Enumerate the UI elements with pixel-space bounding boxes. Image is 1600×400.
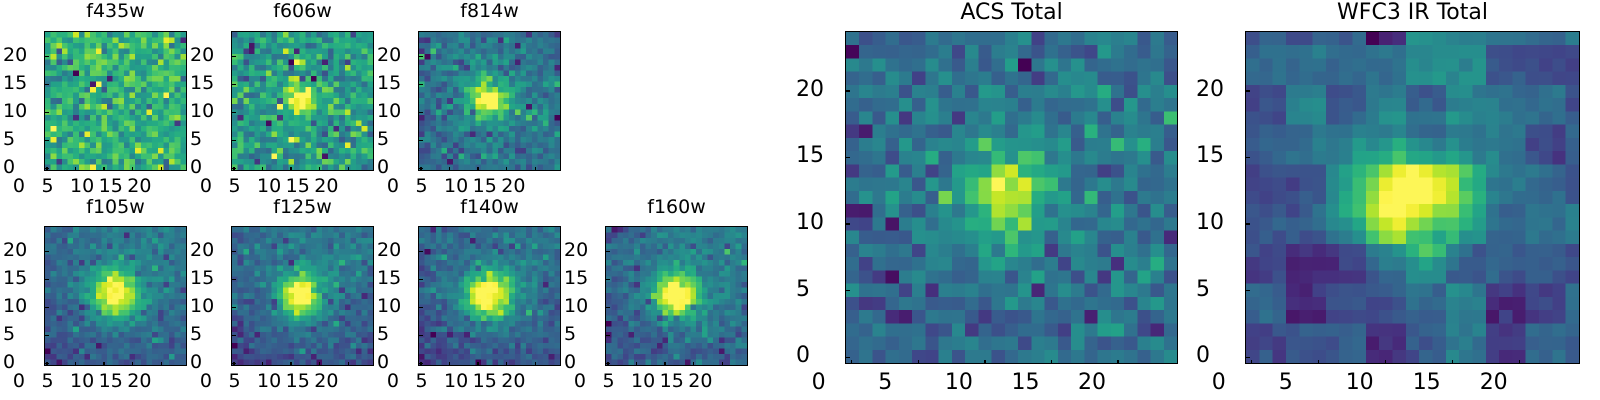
xtick-mark xyxy=(1251,360,1252,365)
xtick-mark xyxy=(75,362,76,367)
ytick-label: 0 xyxy=(377,158,411,177)
heatmap-image-wfc3-ir-total xyxy=(1246,32,1579,363)
ytick-label: 15 xyxy=(190,269,224,288)
heatmap-image-f140w xyxy=(419,227,560,365)
ytick-label: 0 xyxy=(3,158,37,177)
ytick-label: 15 xyxy=(190,74,224,93)
xtick-mark xyxy=(1051,360,1052,365)
ytick-label: 0 xyxy=(796,345,836,367)
xtick-label: 20 xyxy=(1078,372,1158,394)
ytick-mark xyxy=(418,56,423,57)
ytick-mark xyxy=(44,335,49,336)
ytick-label: 5 xyxy=(1196,279,1236,301)
heatmap-image-f125w xyxy=(232,227,373,365)
ytick-mark xyxy=(845,157,850,158)
ytick-mark xyxy=(1245,223,1250,224)
xtick-mark xyxy=(535,362,536,367)
ytick-mark xyxy=(418,251,423,252)
ytick-label: 15 xyxy=(377,269,411,288)
xtick-mark xyxy=(46,167,47,172)
heatmap-image-f160w xyxy=(606,227,747,365)
xtick-mark xyxy=(132,167,133,172)
ytick-mark xyxy=(44,140,49,141)
xtick-mark xyxy=(103,167,104,172)
ytick-mark xyxy=(231,112,236,113)
xtick-mark xyxy=(319,362,320,367)
ytick-label: 5 xyxy=(190,130,224,149)
xtick-mark xyxy=(233,167,234,172)
xtick-mark xyxy=(1519,360,1520,365)
ytick-label: 15 xyxy=(3,269,37,288)
image-axes-wfc3-ir-total xyxy=(1245,31,1580,364)
xtick-mark xyxy=(290,167,291,172)
ytick-mark xyxy=(231,84,236,85)
ytick-mark xyxy=(44,84,49,85)
ytick-label: 0 xyxy=(564,353,598,372)
xtick-label: 20 xyxy=(501,372,569,391)
ytick-label: 20 xyxy=(3,46,37,65)
xtick-mark xyxy=(1452,360,1453,365)
heatmap-image-f814w xyxy=(419,32,560,170)
ytick-mark xyxy=(605,279,610,280)
image-axes-f160w xyxy=(605,226,748,366)
xtick-mark xyxy=(262,362,263,367)
ytick-label: 15 xyxy=(3,74,37,93)
image-axes-f125w xyxy=(231,226,374,366)
ytick-label: 5 xyxy=(377,325,411,344)
ytick-label: 20 xyxy=(3,241,37,260)
xtick-mark xyxy=(1318,360,1319,365)
panel-title-f814w: f814w xyxy=(378,2,601,21)
ytick-label: 5 xyxy=(796,279,836,301)
ytick-label: 10 xyxy=(190,297,224,316)
ytick-mark xyxy=(44,56,49,57)
ytick-label: 5 xyxy=(190,325,224,344)
ytick-mark xyxy=(231,251,236,252)
ytick-mark xyxy=(845,357,850,358)
xtick-mark xyxy=(161,167,162,172)
ytick-mark xyxy=(845,90,850,91)
xtick-mark xyxy=(233,362,234,367)
ytick-mark xyxy=(605,251,610,252)
xtick-mark xyxy=(535,167,536,172)
xtick-mark xyxy=(290,362,291,367)
xtick-mark xyxy=(722,362,723,367)
image-axes-f814w xyxy=(418,31,561,171)
ytick-mark xyxy=(231,279,236,280)
xtick-mark xyxy=(75,167,76,172)
xtick-label: 20 xyxy=(127,372,195,391)
xtick-mark xyxy=(420,362,421,367)
ytick-mark xyxy=(845,290,850,291)
ytick-label: 10 xyxy=(1196,212,1236,234)
ytick-label: 0 xyxy=(190,158,224,177)
xtick-mark xyxy=(420,167,421,172)
ytick-mark xyxy=(44,307,49,308)
image-axes-f606w xyxy=(231,31,374,171)
ytick-mark xyxy=(231,307,236,308)
xtick-mark xyxy=(348,167,349,172)
image-axes-acs-total xyxy=(845,31,1178,364)
ytick-mark xyxy=(418,84,423,85)
panel-title-wfc3-ir-total: WFC3 IR Total xyxy=(1175,2,1600,24)
ytick-label: 10 xyxy=(377,297,411,316)
ytick-mark xyxy=(231,140,236,141)
heatmap-image-f435w xyxy=(45,32,186,170)
heatmap-image-f105w xyxy=(45,227,186,365)
ytick-label: 5 xyxy=(564,325,598,344)
ytick-label: 20 xyxy=(1196,79,1236,101)
xtick-mark xyxy=(319,167,320,172)
ytick-mark xyxy=(418,279,423,280)
xtick-mark xyxy=(1117,360,1118,365)
ytick-label: 10 xyxy=(3,102,37,121)
ytick-label: 15 xyxy=(1196,145,1236,167)
ytick-label: 20 xyxy=(377,241,411,260)
ytick-mark xyxy=(44,279,49,280)
xtick-label: 20 xyxy=(501,177,569,196)
ytick-label: 0 xyxy=(377,353,411,372)
xtick-mark xyxy=(1385,360,1386,365)
ytick-label: 5 xyxy=(3,325,37,344)
xtick-label: 20 xyxy=(314,372,382,391)
xtick-mark xyxy=(262,167,263,172)
ytick-label: 10 xyxy=(3,297,37,316)
ytick-mark xyxy=(418,335,423,336)
xtick-mark xyxy=(477,167,478,172)
ytick-label: 5 xyxy=(377,130,411,149)
xtick-mark xyxy=(851,360,852,365)
xtick-mark xyxy=(348,362,349,367)
xtick-label: 20 xyxy=(688,372,756,391)
ytick-label: 20 xyxy=(377,46,411,65)
xtick-mark xyxy=(506,167,507,172)
xtick-label: 20 xyxy=(127,177,195,196)
xtick-label: 20 xyxy=(314,177,382,196)
xtick-mark xyxy=(918,360,919,365)
ytick-label: 0 xyxy=(3,353,37,372)
ytick-mark xyxy=(845,223,850,224)
xtick-mark xyxy=(636,362,637,367)
ytick-label: 20 xyxy=(796,79,836,101)
ytick-label: 10 xyxy=(190,102,224,121)
ytick-label: 15 xyxy=(377,74,411,93)
ytick-label: 5 xyxy=(3,130,37,149)
ytick-mark xyxy=(418,140,423,141)
xtick-mark xyxy=(449,362,450,367)
xtick-mark xyxy=(506,362,507,367)
ytick-mark xyxy=(44,251,49,252)
image-axes-f140w xyxy=(418,226,561,366)
ytick-label: 15 xyxy=(564,269,598,288)
ytick-label: 10 xyxy=(564,297,598,316)
xtick-mark xyxy=(161,362,162,367)
ytick-label: 20 xyxy=(190,46,224,65)
ytick-mark xyxy=(418,307,423,308)
xtick-mark xyxy=(103,362,104,367)
image-axes-f105w xyxy=(44,226,187,366)
panel-title-f160w: f160w xyxy=(565,198,788,217)
image-axes-f435w xyxy=(44,31,187,171)
ytick-mark xyxy=(1245,357,1250,358)
ytick-mark xyxy=(605,307,610,308)
xtick-label: 20 xyxy=(1480,372,1560,394)
xtick-mark xyxy=(607,362,608,367)
ytick-label: 10 xyxy=(377,102,411,121)
xtick-mark xyxy=(693,362,694,367)
xtick-mark xyxy=(477,362,478,367)
ytick-mark xyxy=(1245,90,1250,91)
ytick-label: 15 xyxy=(796,145,836,167)
ytick-mark xyxy=(1245,157,1250,158)
ytick-mark xyxy=(1245,290,1250,291)
xtick-mark xyxy=(46,362,47,367)
ytick-mark xyxy=(44,112,49,113)
ytick-mark xyxy=(231,56,236,57)
ytick-label: 20 xyxy=(564,241,598,260)
xtick-mark xyxy=(664,362,665,367)
ytick-mark xyxy=(231,335,236,336)
heatmap-image-acs-total xyxy=(846,32,1177,363)
ytick-label: 10 xyxy=(796,212,836,234)
xtick-mark xyxy=(984,360,985,365)
ytick-mark xyxy=(605,335,610,336)
heatmap-image-f606w xyxy=(232,32,373,170)
xtick-mark xyxy=(132,362,133,367)
figure-canvas: f435w0055101015152020f606w00551010151520… xyxy=(0,0,1600,400)
xtick-mark xyxy=(449,167,450,172)
ytick-mark xyxy=(418,112,423,113)
ytick-label: 0 xyxy=(1196,345,1236,367)
ytick-label: 20 xyxy=(190,241,224,260)
ytick-label: 0 xyxy=(190,353,224,372)
